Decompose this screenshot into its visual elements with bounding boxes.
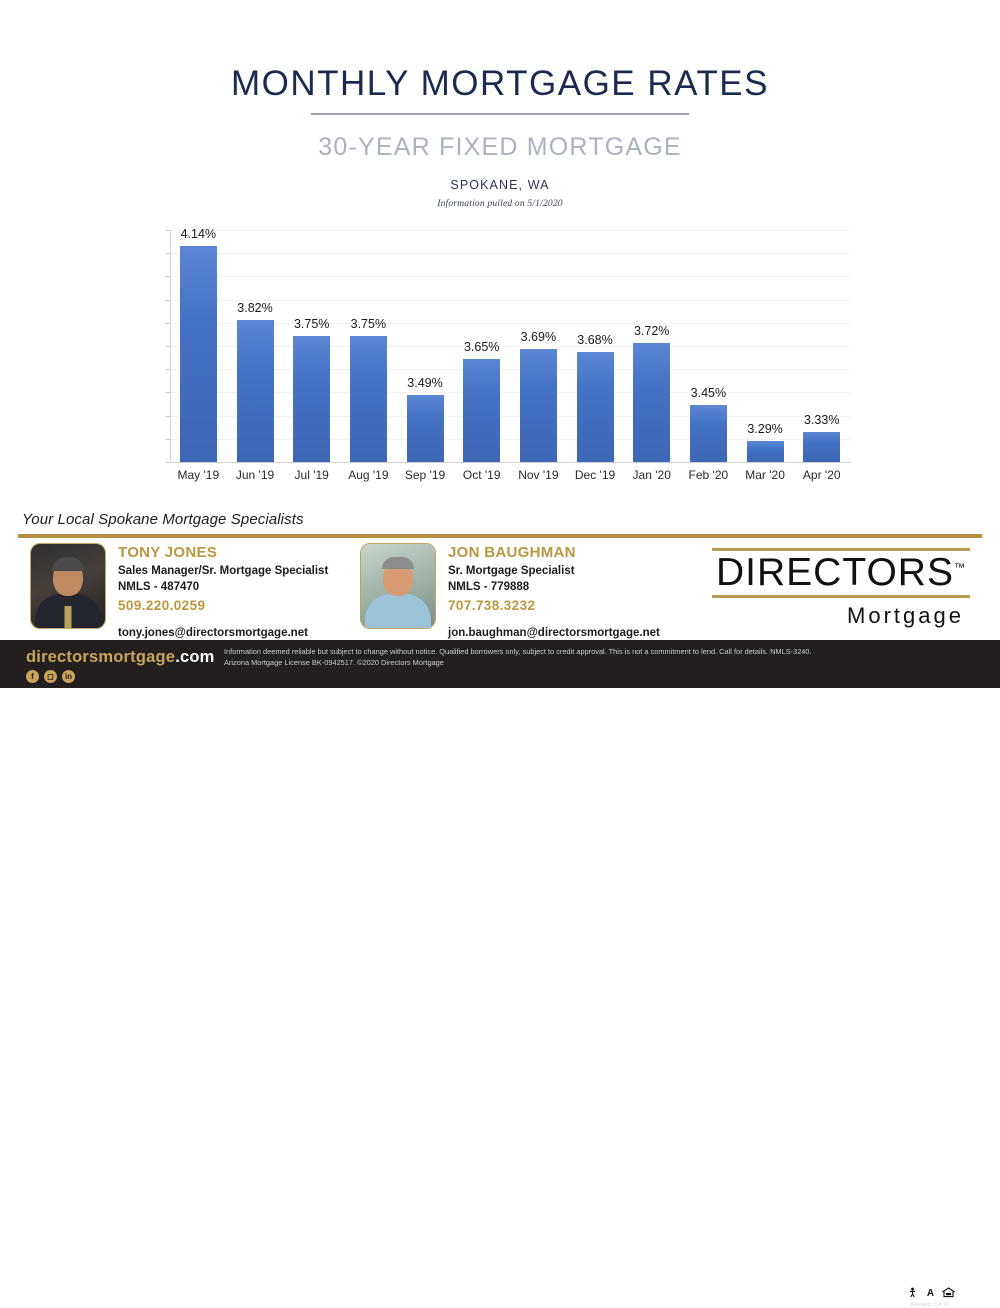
market-location: SPOKANE, WA <box>0 178 1000 192</box>
gold-divider <box>18 534 982 538</box>
large-print-icon: A <box>923 1285 938 1300</box>
chart-bar-slot: 3.68% <box>567 230 624 462</box>
chart-bar-value-label: 4.14% <box>181 227 216 241</box>
chart-x-labels: May '19Jun '19Jul '19Aug '19Sep '19Oct '… <box>170 468 850 482</box>
disclaimer-line-1: Information deemed reliable but subject … <box>224 646 864 657</box>
chart-x-label: Feb '20 <box>680 468 737 482</box>
mortgage-rate-bar-chart: 4.14%3.82%3.75%3.75%3.49%3.65%3.69%3.68%… <box>0 212 1000 497</box>
chart-x-label: Jun '19 <box>227 468 284 482</box>
website-tld: .com <box>175 648 214 666</box>
chart-x-label: Oct '19 <box>453 468 510 482</box>
chart-bar-slot: 3.75% <box>340 230 397 462</box>
chart-bar-value-label: 3.29% <box>747 422 782 436</box>
chart-bar-slot: 3.45% <box>680 230 737 462</box>
chart-bar-value-label: 3.68% <box>577 333 612 347</box>
contact-role: Sr. Mortgage Specialist <box>448 563 660 580</box>
chart-bar: 3.65% <box>463 359 500 462</box>
avatar <box>360 543 436 629</box>
chart-x-axis <box>170 462 851 463</box>
chart-bar-value-label: 3.72% <box>634 324 669 338</box>
chart-bar-slot: 3.49% <box>397 230 454 462</box>
chart-bar: 3.49% <box>407 395 444 462</box>
contact-name: TONY JONES <box>118 544 328 563</box>
chart-bar: 3.75% <box>293 336 330 462</box>
page-title: MONTHLY MORTGAGE RATES <box>0 66 1000 101</box>
revised-date: Revised: 3.4.20 <box>898 1302 962 1308</box>
chart-x-label: Nov '19 <box>510 468 567 482</box>
chart-bar-slot: 3.65% <box>453 230 510 462</box>
website-name: directorsmortgage <box>26 648 175 666</box>
company-logo: DIRECTORS™ Mortgage <box>712 548 970 629</box>
facebook-icon[interactable]: f <box>26 670 39 683</box>
chart-bar-slot: 3.29% <box>737 230 794 462</box>
chart-bars: 4.14%3.82%3.75%3.75%3.49%3.65%3.69%3.68%… <box>170 230 850 462</box>
chart-bar-slot: 3.72% <box>623 230 680 462</box>
chart-bar: 4.14% <box>180 246 217 462</box>
linkedin-icon[interactable]: in <box>62 670 75 683</box>
chart-x-label: Jul '19 <box>283 468 340 482</box>
chart-bar-value-label: 3.65% <box>464 340 499 354</box>
data-pulled-date: Information pulled on 5/1/2020 <box>0 199 1000 209</box>
page-subtitle: 30-YEAR FIXED MORTGAGE <box>0 133 1000 162</box>
logo-wordmark-text: DIRECTORS <box>716 551 954 594</box>
chart-bar: 3.75% <box>350 336 387 462</box>
svg-text:A: A <box>926 1288 933 1298</box>
equal-housing-lender-icon <box>941 1285 956 1300</box>
chart-bar-value-label: 3.45% <box>691 386 726 400</box>
instagram-icon[interactable]: ◻ <box>44 670 57 683</box>
website-link[interactable]: directorsmortgage.com <box>26 648 215 667</box>
chart-x-label: Jan '20 <box>623 468 680 482</box>
chart-bar: 3.72% <box>633 343 670 462</box>
chart-bar: 3.29% <box>747 441 784 462</box>
chart-bar-slot: 3.69% <box>510 230 567 462</box>
contact-name: JON BAUGHMAN <box>448 544 660 563</box>
chart-x-label: Mar '20 <box>737 468 794 482</box>
chart-x-label: Aug '19 <box>340 468 397 482</box>
chart-bar-slot: 3.33% <box>793 230 850 462</box>
title-divider <box>311 113 689 115</box>
contact-role: Sales Manager/Sr. Mortgage Specialist <box>118 563 328 580</box>
chart-x-label: May '19 <box>170 468 227 482</box>
contact-card-tony-jones: TONY JONES Sales Manager/Sr. Mortgage Sp… <box>30 543 328 639</box>
social-links: f ◻ in <box>26 670 75 683</box>
contact-nmls: NMLS - 779888 <box>448 579 660 596</box>
logo-subtext: Mortgage <box>712 598 970 629</box>
chart-x-label: Apr '20 <box>793 468 850 482</box>
contact-nmls: NMLS - 487470 <box>118 579 328 596</box>
contact-phone[interactable]: 509.220.0259 <box>118 596 328 616</box>
legal-disclaimer: Information deemed reliable but subject … <box>224 646 864 669</box>
chart-bar-slot: 4.14% <box>170 230 227 462</box>
accessibility-icon <box>905 1285 920 1300</box>
chart-bar-slot: 3.75% <box>283 230 340 462</box>
page-header: MONTHLY MORTGAGE RATES 30-YEAR FIXED MOR… <box>0 0 1000 209</box>
trademark-symbol: ™ <box>954 562 966 574</box>
logo-wordmark: DIRECTORS™ <box>712 551 970 595</box>
compliance-badges: A Revised: 3.4.20 <box>898 1285 962 1308</box>
chart-bar: 3.45% <box>690 405 727 462</box>
chart-bar-value-label: 3.69% <box>521 330 556 344</box>
chart-bar-slot: 3.82% <box>227 230 284 462</box>
tagline: Your Local Spokane Mortgage Specialists <box>22 511 304 528</box>
chart-bar-value-label: 3.75% <box>351 317 386 331</box>
chart-x-label: Sep '19 <box>397 468 454 482</box>
chart-bar-value-label: 3.82% <box>237 301 272 315</box>
chart-bar: 3.68% <box>577 352 614 462</box>
chart-bar-value-label: 3.33% <box>804 413 839 427</box>
contact-email[interactable]: jon.baughman@directorsmortgage.net <box>448 627 660 639</box>
chart-x-label: Dec '19 <box>567 468 624 482</box>
avatar <box>30 543 106 629</box>
chart-bar-value-label: 3.75% <box>294 317 329 331</box>
chart-bar-value-label: 3.49% <box>407 376 442 390</box>
contact-email[interactable]: tony.jones@directorsmortgage.net <box>118 627 328 639</box>
contact-card-jon-baughman: JON BAUGHMAN Sr. Mortgage Specialist NML… <box>360 543 660 639</box>
chart-bar: 3.69% <box>520 349 557 462</box>
chart-bar: 3.82% <box>237 320 274 462</box>
contact-phone[interactable]: 707.738.3232 <box>448 596 660 616</box>
chart-bar: 3.33% <box>803 432 840 462</box>
disclaimer-line-2: Arizona Mortgage License BK-0942517. ©20… <box>224 657 864 668</box>
